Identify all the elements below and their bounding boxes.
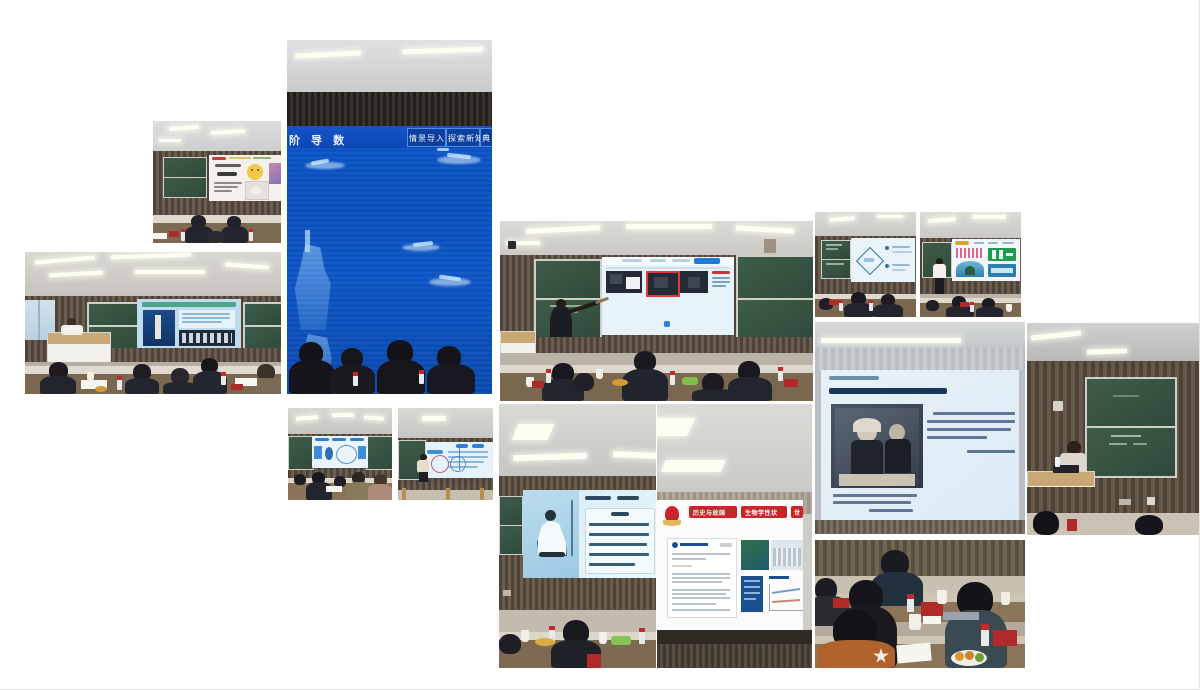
banner-1-label: 历史与故国 (693, 508, 726, 517)
red-banner-poster-screen-photo[interactable]: 历史与故国 生物学性状 世 (657, 404, 812, 668)
marx-portrait-slide-photo[interactable]: Slide titled with Marxist theory text an… (815, 322, 1025, 534)
collage-canvas: Lecture hall with projected slide showin… (0, 0, 1200, 690)
banner-3-label: 世 (794, 508, 801, 517)
audience-seated-back-view-photo[interactable]: Back view of seated audience members at … (815, 540, 1025, 668)
presenter-green-chart-photo[interactable]: Presenter standing beside screen with gr… (920, 212, 1021, 317)
naval-simulation-screen-photo[interactable]: 阶 导 数 情景导入 探索新知 典 Large blue naval sea s… (287, 40, 492, 394)
hud-button-2-label: 探索新知 (448, 133, 484, 144)
diagram-slide-classroom-photo[interactable]: Classroom with a diamond diagram slide p… (815, 212, 916, 317)
ink-painting-slide-photo[interactable]: Slide with a traditional ink-wash figure… (499, 404, 656, 668)
classroom-emoji-slide-photo[interactable]: Lecture hall with projected slide showin… (153, 121, 281, 243)
hud-button-3-label: 典 (482, 133, 491, 144)
banner-2-label: 生物学性状 (745, 508, 778, 517)
wide-lecture-hall-photo[interactable]: Wide lecture hall view, instructor at po… (25, 252, 281, 394)
hud-title: 阶 导 数 (289, 132, 348, 148)
circle-diagram-classroom-photo[interactable]: Classroom with a circular flow diagram o… (288, 408, 392, 500)
instructor-at-podium-chalkboard-photo[interactable]: Instructor at the podium in front of a g… (1027, 323, 1199, 535)
hud-button-1-label: 情景导入 (409, 133, 445, 144)
instructor-pointing-screen-photo[interactable]: Instructor pointing at a large projected… (500, 221, 813, 401)
teacher-pointing-diagram-photo[interactable]: Teacher pointing at a diagram on a wide … (398, 408, 493, 500)
